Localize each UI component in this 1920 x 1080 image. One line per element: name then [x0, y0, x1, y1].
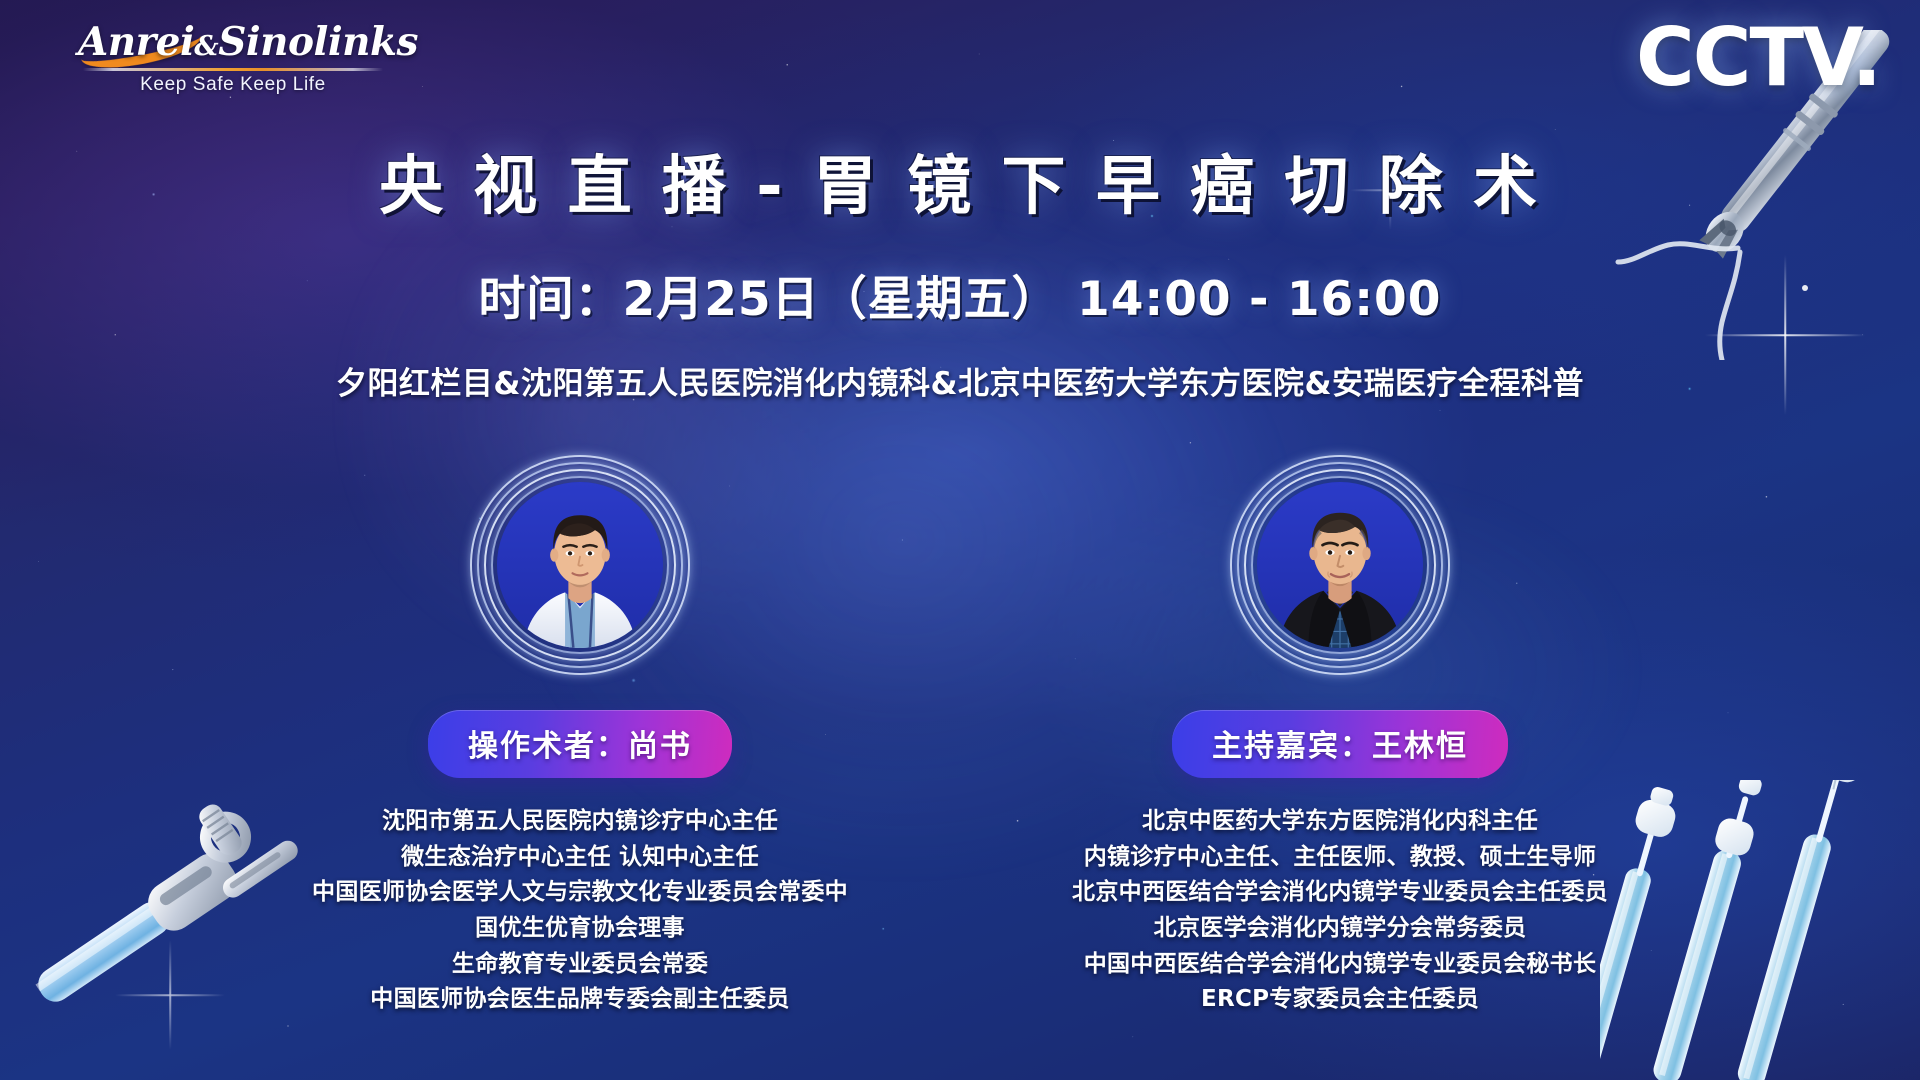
credential-line: 生命教育专业委员会常委	[312, 947, 848, 983]
credential-line: 中国医师协会医生品牌专委会副主任委员	[312, 982, 848, 1018]
credential-line: 沈阳市第五人民医院内镜诊疗中心主任	[312, 804, 848, 840]
credential-line: 微生态治疗中心主任 认知中心主任	[312, 840, 848, 876]
credential-line: 北京医学会消化内镜学分会常务委员	[1072, 911, 1608, 947]
poster-canvas: Anrei&Sinolinks Keep Safe Keep Life CCTV…	[0, 0, 1920, 1080]
credential-line: 中国医师协会医学人文与宗教文化专业委员会常委中	[312, 875, 848, 911]
event-time: 时间：2月25日（星期五） 14:00 - 16:00	[0, 260, 1920, 329]
credential-line: 北京中医药大学东方医院消化内科主任	[1072, 804, 1608, 840]
credential-line: 北京中西医结合学会消化内镜学专业委员会主任委员	[1072, 875, 1608, 911]
brand-wordmark: Anrei&Sinolinks	[78, 22, 388, 63]
speakers-section: 操作术者：尚书 沈阳市第五人民医院内镜诊疗中心主任 微生态治疗中心主任 认知中心…	[0, 455, 1920, 1018]
speaker-name-badge-operator: 操作术者：尚书	[428, 710, 732, 778]
credential-line: 国优生优育协会理事	[312, 911, 848, 947]
brand-name-sinolinks: Sinolinks	[218, 19, 418, 65]
partners-line: 夕阳红栏目&沈阳第五人民医院消化内镜科&北京中医药大学东方医院&安瑞医疗全程科普	[0, 358, 1920, 403]
speaker-credentials-operator: 沈阳市第五人民医院内镜诊疗中心主任 微生态治疗中心主任 认知中心主任 中国医师协…	[312, 804, 848, 1018]
brand-tagline: Keep Safe Keep Life	[78, 74, 388, 96]
avatar	[470, 455, 690, 675]
brand-divider-rule	[83, 68, 383, 71]
speaker-name-badge-host: 主持嘉宾：王林恒	[1172, 710, 1508, 778]
brand-ampersand: &	[194, 31, 218, 62]
speaker-portrait-photo-host	[1257, 482, 1423, 648]
company-brand-lockup: Anrei&Sinolinks Keep Safe Keep Life	[78, 22, 388, 96]
speaker-credentials-host: 北京中医药大学东方医院消化内科主任 内镜诊疗中心主任、主任医师、教授、硕士生导师…	[1072, 804, 1608, 1018]
cctv-logo: CCTV.	[1636, 18, 1880, 98]
speaker-card-operator: 操作术者：尚书 沈阳市第五人民医院内镜诊疗中心主任 微生态治疗中心主任 认知中心…	[200, 455, 960, 1018]
page-title: 央 视 直 播 - 胃 镜 下 早 癌 切 除 术	[0, 135, 1920, 227]
credential-line: 内镜诊疗中心主任、主任医师、教授、硕士生导师	[1072, 840, 1608, 876]
speaker-card-host: 主持嘉宾：王林恒 北京中医药大学东方医院消化内科主任 内镜诊疗中心主任、主任医师…	[960, 455, 1720, 1018]
credential-line: 中国中西医结合学会消化内镜学专业委员会秘书长	[1072, 947, 1608, 983]
speaker-portrait-photo-operator	[497, 482, 663, 648]
avatar	[1230, 455, 1450, 675]
credential-line: ERCP专家委员会主任委员	[1072, 982, 1608, 1018]
brand-name-anrei: Anrei	[78, 19, 194, 65]
